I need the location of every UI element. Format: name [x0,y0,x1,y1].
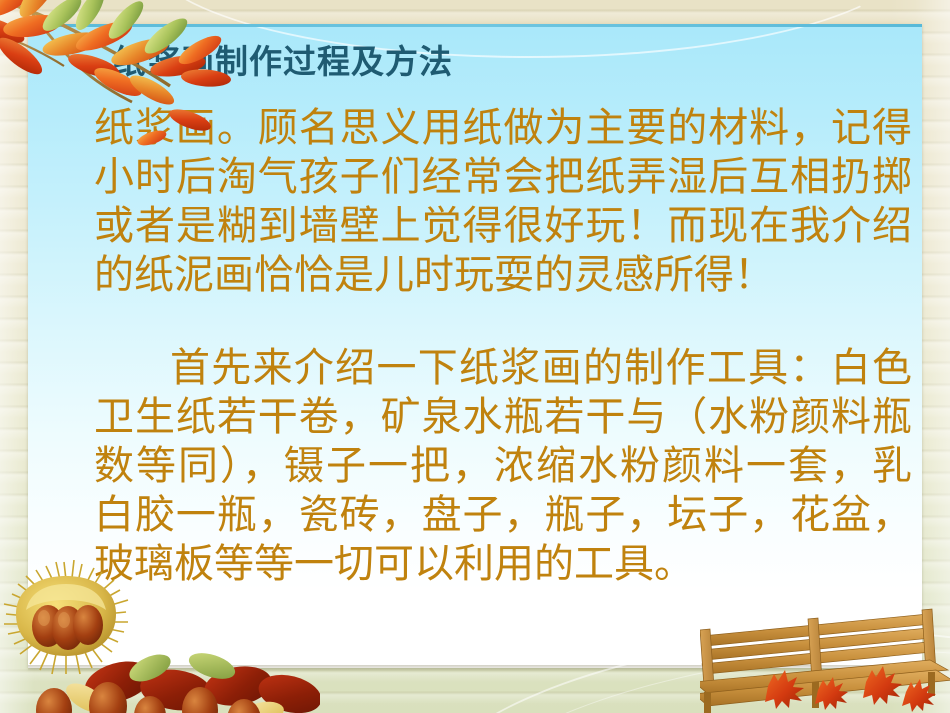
chestnut-and-leaves-icon [0,560,320,713]
body-paragraph: 首先来介绍一下纸浆画的制作工具：白色卫生纸若干卷，矿泉水瓶若干与（水粉颜料瓶数等… [52,344,912,589]
park-bench-with-maple-leaves-icon [700,600,950,713]
paragraph-text: 首先来介绍一下纸浆画的制作工具：白色卫生纸若干卷，矿泉水瓶若干与（水粉颜料瓶数等… [94,344,912,589]
autumn-leaves-branch-icon [0,0,294,175]
presentation-slide: 纸浆画制作过程及方法 纸浆画。顾名思义用纸做为主要的材料，记得小时后淘气孩子们经… [0,0,950,713]
leaf-bullet-icon [51,358,80,380]
slide-body: 纸浆画。顾名思义用纸做为主要的材料，记得小时后淘气孩子们经常会把纸弄湿后互相扔掷… [52,104,912,589]
